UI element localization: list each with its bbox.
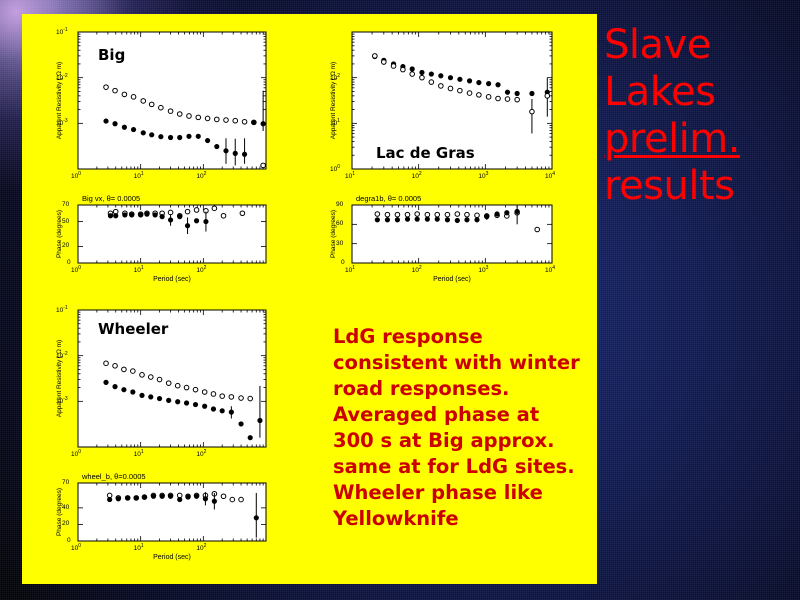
- slide-title: Slave Lakes prelim. results: [604, 22, 794, 210]
- y-axis-label: Phase (degrees): [56, 483, 63, 541]
- body-text-line: road responses.: [333, 376, 613, 402]
- y-axis-label: Apparent Resistivity ( Ω m): [330, 32, 337, 169]
- title-line-1: Slave: [604, 22, 794, 69]
- chart-lacdegras-resistivity: 101102103104100101102Apparent Resistivit…: [322, 28, 558, 175]
- x-tick-label: 100: [71, 449, 81, 458]
- y-tick-label: 20: [62, 242, 69, 249]
- chart-plot-area: [48, 195, 272, 289]
- x-tick-label: 100: [71, 265, 81, 274]
- body-text-line: consistent with winter: [333, 350, 613, 376]
- x-tick-label: 102: [412, 265, 422, 274]
- title-line-2: Lakes: [604, 69, 794, 116]
- x-tick-label: 100: [71, 543, 81, 552]
- chart-wheeler-phase: wheel_b, θ=0.00051001011020204070Period …: [48, 473, 272, 567]
- y-axis-label: Apparent Resistivity ( Ω m): [56, 32, 63, 169]
- y-tick-label: 90: [336, 201, 343, 208]
- x-tick-label: 103: [478, 265, 488, 274]
- y-axis-label: Phase (degrees): [330, 205, 337, 263]
- x-tick-label: 103: [478, 171, 488, 180]
- y-tick-label: 0: [67, 259, 71, 266]
- yellow-content-panel: 10010110210-310-210-1Apparent Resistivit…: [22, 14, 597, 584]
- x-tick-label: 101: [345, 265, 355, 274]
- body-text-block: LdG responseconsistent with winterroad r…: [333, 324, 613, 532]
- y-tick-label: 70: [62, 479, 69, 486]
- body-text-line: Averaged phase at: [333, 402, 613, 428]
- y-tick-label: 0: [67, 537, 71, 544]
- site-label: Wheeler: [98, 320, 168, 338]
- x-tick-label: 101: [134, 449, 144, 458]
- x-tick-label: 101: [134, 265, 144, 274]
- x-tick-label: 101: [134, 543, 144, 552]
- site-label: Lac de Gras: [376, 144, 475, 162]
- title-line-4: results: [604, 163, 794, 210]
- body-text-line: 300 s at Big approx.: [333, 428, 613, 454]
- y-tick-label: 40: [62, 504, 69, 511]
- site-label: Big: [98, 46, 125, 64]
- y-tick-label: 70: [62, 201, 69, 208]
- body-text-line: LdG response: [333, 324, 613, 350]
- y-tick-label: 50: [62, 218, 69, 225]
- y-tick-label: 60: [336, 220, 343, 227]
- x-tick-label: 101: [134, 171, 144, 180]
- chart-lacdegras-phase: degra1b, θ= 0.00051011021031040306090Per…: [322, 195, 558, 289]
- x-tick-label: 102: [196, 171, 206, 180]
- x-tick-label: 102: [412, 171, 422, 180]
- y-tick-label: 30: [336, 240, 343, 247]
- body-text-line: Yellowknife: [333, 506, 613, 532]
- chart-big-phase: Big vx, θ= 0.00051001011020205070Period …: [48, 195, 272, 289]
- x-tick-label: 102: [196, 265, 206, 274]
- x-tick-label: 101: [345, 171, 355, 180]
- chart-plot-area: [48, 28, 272, 175]
- chart-wheeler-resistivity: 10010110210-310-210-1Apparent Resistivit…: [48, 306, 272, 453]
- y-tick-label: 0: [341, 259, 345, 266]
- chart-plot-area: [48, 473, 272, 567]
- chart-plot-area: [322, 195, 558, 289]
- x-axis-label: Period (sec): [78, 554, 266, 561]
- y-tick-label: 20: [62, 520, 69, 527]
- x-axis-label: Period (sec): [352, 276, 552, 283]
- body-text-line: Wheeler phase like: [333, 480, 613, 506]
- x-tick-label: 102: [196, 543, 206, 552]
- x-axis-label: Period (sec): [78, 276, 266, 283]
- x-tick-label: 100: [71, 171, 81, 180]
- body-text-line: same at for LdG sites.: [333, 454, 613, 480]
- slide-canvas: 10010110210-310-210-1Apparent Resistivit…: [0, 0, 800, 600]
- x-tick-label: 104: [545, 265, 555, 274]
- y-axis-label: Phase (degrees): [56, 205, 63, 263]
- x-tick-label: 104: [545, 171, 555, 180]
- y-axis-label: Apparent Resistivity ( Ω m): [56, 310, 63, 447]
- title-line-3: prelim.: [604, 116, 794, 163]
- x-tick-label: 102: [196, 449, 206, 458]
- chart-big-resistivity: 10010110210-310-210-1Apparent Resistivit…: [48, 28, 272, 175]
